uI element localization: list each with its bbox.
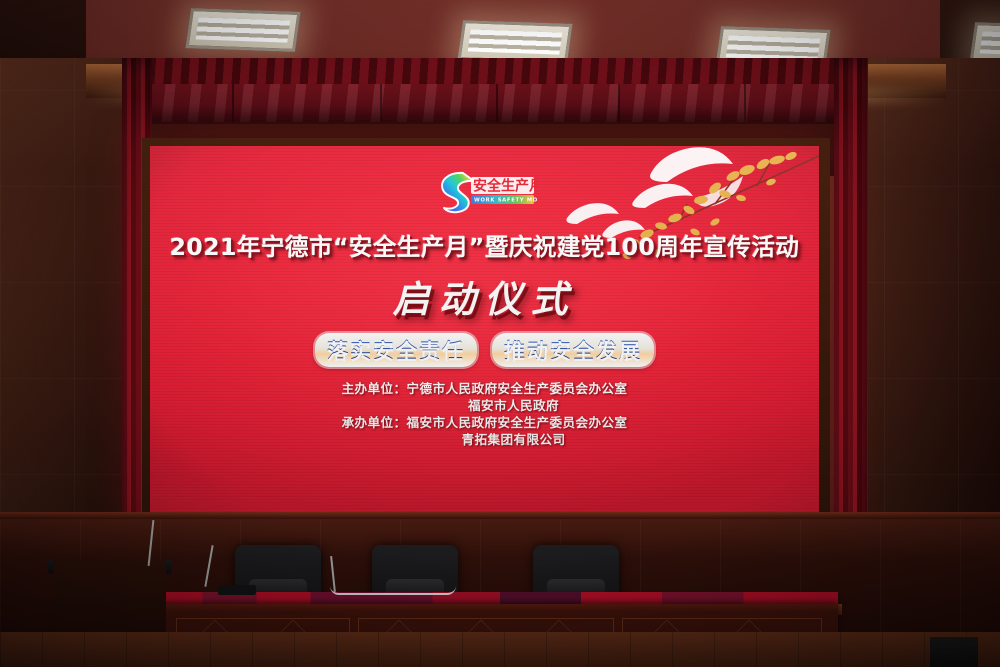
screen-bottom-rail: [0, 512, 1000, 519]
organizer-line-4: 青拓集团有限公司: [150, 431, 819, 448]
slogan-group: 落实安全责任 推动安全发展: [315, 333, 654, 367]
dove-icon: [566, 203, 619, 224]
organizer-line-2: 福安市人民政府: [150, 397, 819, 414]
organizer-list: 主办单位：宁德市人民政府安全生产委员会办公室 福安市人民政府 承办单位：福安市人…: [150, 380, 819, 448]
event-title-sub: 启动仪式: [150, 269, 819, 323]
logo-english-text: WORK SAFETY MONTH: [474, 198, 537, 204]
slogan-2: 推动安全发展: [492, 333, 654, 367]
slogan-1: 落实安全责任: [315, 333, 477, 367]
organizer-line-3: 承办单位：福安市人民政府安全生产委员会办公室: [150, 414, 819, 431]
logo-chinese-text: 安全生产月: [473, 178, 537, 195]
organizer-line-1: 主办单位：宁德市人民政府安全生产委员会办公室: [150, 380, 819, 397]
dove-icon: [650, 147, 733, 182]
mic-cable: [330, 586, 456, 595]
dove-icon: [632, 184, 693, 208]
golden-branch: [639, 156, 819, 238]
curtain-header: [122, 58, 868, 84]
nameplate-box: [218, 585, 256, 595]
ceiling-light-1: [185, 8, 300, 52]
screen-text-block: 2021年宁德市“安全生产月”暨庆祝建党100周年宣传活动 启动仪式 落实安全责…: [150, 228, 819, 448]
floor-speaker: [930, 637, 978, 667]
floor: [0, 632, 1000, 667]
conference-hall-photo: 安全生产月 WORK SAFETY MONTH 2021年宁德市“安全生产月”暨…: [0, 0, 1000, 667]
work-safety-month-logo: 安全生产月 WORK SAFETY MONTH: [433, 166, 537, 216]
led-screen: 安全生产月 WORK SAFETY MONTH 2021年宁德市“安全生产月”暨…: [150, 146, 819, 512]
stage-valance: [140, 78, 862, 124]
event-title-main: 2021年宁德市“安全生产月”暨庆祝建党100周年宣传活动: [150, 228, 819, 262]
dove-icon: [695, 176, 743, 207]
